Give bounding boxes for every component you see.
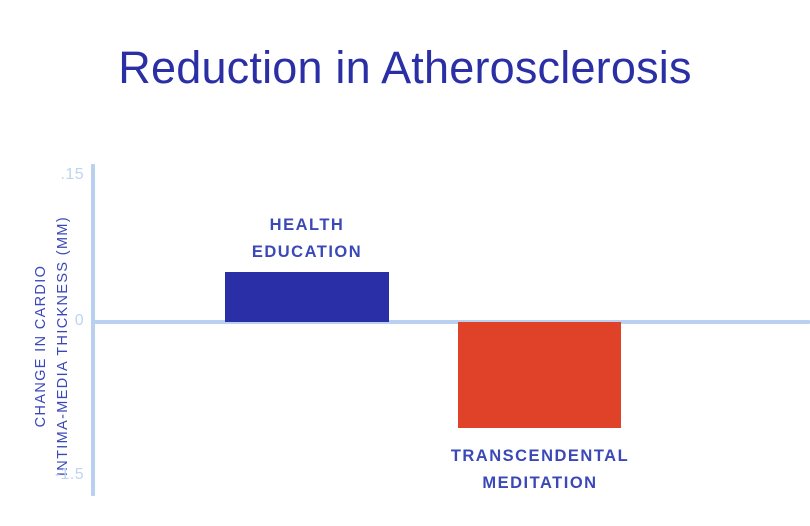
y-axis-tick-labels: .15 0 -1.5 (34, 0, 84, 526)
y-tick-label-zero: 0 (40, 312, 84, 330)
y-tick-label-top: .15 (40, 166, 84, 184)
y-axis-line (91, 164, 95, 496)
bar-label-transcendental-meditation: TRANSCENDENTAL MEDITATION (420, 443, 660, 496)
chart-title: Reduction in Atherosclerosis (0, 44, 810, 91)
bar-label-health-education: HEALTH EDUCATION (197, 212, 417, 265)
zero-baseline (91, 320, 810, 324)
bar-health-education (225, 272, 389, 322)
bar-transcendental-meditation (458, 322, 621, 428)
chart-container: Reduction in Atherosclerosis CHANGE IN C… (0, 0, 810, 526)
y-tick-label-bottom: -1.5 (40, 466, 84, 484)
